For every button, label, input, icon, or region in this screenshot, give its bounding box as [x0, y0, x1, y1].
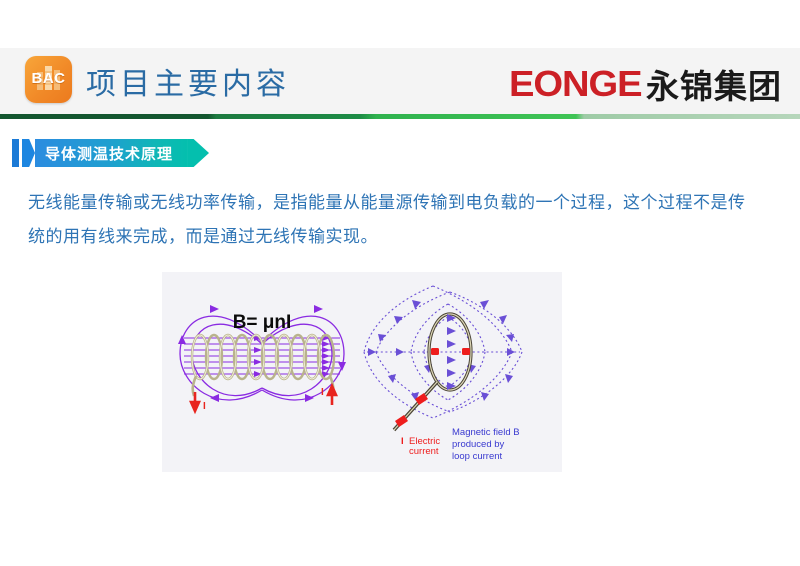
company-brand: EONGE 永锦集团	[509, 60, 782, 108]
solenoid-current-label-right: I	[321, 387, 324, 398]
solenoid-formula-label: B= μnI	[233, 312, 292, 333]
loop-field-caption-line3: loop current	[452, 451, 503, 462]
page-title: 项目主要内容	[86, 59, 290, 103]
bac-logo: BAC	[25, 56, 72, 103]
brand-name-english: EONGE	[509, 63, 642, 105]
section-banner-tick	[12, 139, 19, 167]
magnetic-field-svg: I I B= μnI	[162, 272, 562, 472]
loop-field-caption-line2: produced by	[452, 439, 505, 450]
section-banner-left-chevron-icon	[22, 139, 35, 167]
section-banner-label: 导体测温技术原理	[35, 139, 187, 167]
loop-current-caption-line2: current	[409, 446, 439, 457]
figure-magnetic-field-illustrations: I I B= μnI	[162, 272, 562, 472]
header-divider	[0, 114, 800, 119]
brand-name-chinese: 永锦集团	[646, 60, 782, 108]
loop-field-caption-line1: Magnetic field B	[452, 427, 520, 438]
body-paragraph: 无线能量传输或无线功率传输，是指能量从能量源传输到电负载的一个过程，这个过程不是…	[28, 186, 758, 254]
loop-current-symbol: I	[401, 436, 404, 447]
section-banner-right-chevron-icon	[187, 139, 209, 167]
solenoid-current-label-left: I	[203, 401, 206, 412]
slide: BAC 项目主要内容 EONGE 永锦集团 导体测温技术原理 无线能量传输或无线…	[0, 0, 800, 566]
bac-logo-text: BAC	[25, 70, 72, 87]
section-banner: 导体测温技术原理	[12, 139, 209, 167]
